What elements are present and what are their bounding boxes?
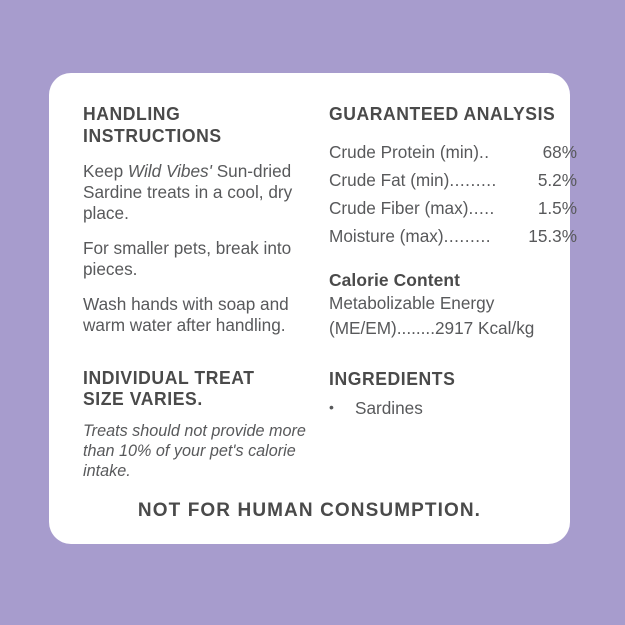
analysis-nutrient-value: 15.3% [528,222,577,250]
treat-size-heading-line-2: SIZE VARIES. [83,388,300,410]
list-item: • Sardines [329,397,577,419]
handling-paragraph-wash-hands: Wash hands with soap and warm water afte… [83,294,311,335]
calorie-content-section: Calorie Content Metabolizable Energy (ME… [329,270,577,340]
table-row: Crude Protein (min) .. 68% [329,138,577,166]
analysis-dot-leader: ..... [468,194,537,222]
table-row: Crude Fat (min) ......... 5.2% [329,166,577,194]
analysis-nutrient-name: Crude Fat (min) [329,166,449,194]
analysis-dot-leader: .. [479,138,543,166]
analysis-nutrient-value: 1.5% [538,194,577,222]
table-row: Moisture (max) ......... 15.3% [329,222,577,250]
handling-instructions-heading: HANDLING INSTRUCTIONS [83,103,300,146]
label-columns: HANDLING INSTRUCTIONS Keep Wild Vibes' S… [77,103,542,481]
analysis-nutrient-name: Crude Protein (min) [329,138,479,166]
treat-size-section: INDIVIDUAL TREAT SIZE VARIES. Treats sho… [83,367,311,482]
analysis-dot-leader: ......... [449,166,537,194]
right-column: GUARANTEED ANALYSIS Crude Protein (min) … [311,103,577,419]
treat-size-heading-line-1: INDIVIDUAL TREAT [83,367,300,389]
analysis-nutrient-value: 68% [543,138,577,166]
handling-paragraph-storage-before: Keep [83,161,128,181]
ingredients-list: • Sardines [329,397,577,419]
ingredients-section: INGREDIENTS • Sardines [329,368,577,419]
analysis-nutrient-value: 5.2% [538,166,577,194]
treat-size-note: Treats should not provide more than 10% … [83,422,311,481]
calorie-content-line-2: (ME/EM)........2917 Kcal/kg [329,316,577,340]
ingredient-label: Sardines [355,397,423,419]
handling-heading-line-2: INSTRUCTIONS [83,125,300,147]
human-consumption-warning: NOT FOR HUMAN CONSUMPTION. [49,500,570,522]
left-column: HANDLING INSTRUCTIONS Keep Wild Vibes' S… [77,103,311,481]
brand-name: Wild Vibes' [128,161,212,181]
analysis-nutrient-name: Crude Fiber (max) [329,194,468,222]
ingredients-heading: INGREDIENTS [329,368,565,390]
guaranteed-analysis-list: Crude Protein (min) .. 68% Crude Fat (mi… [329,138,577,251]
handling-paragraph-storage: Keep Wild Vibes' Sun-dried Sardine treat… [83,161,311,223]
handling-heading-line-1: HANDLING [83,103,300,125]
handling-instructions-section: HANDLING INSTRUCTIONS Keep Wild Vibes' S… [83,103,311,336]
table-row: Crude Fiber (max) ..... 1.5% [329,194,577,222]
analysis-dot-leader: ......... [444,222,529,250]
calorie-content-heading: Calorie Content [329,270,577,291]
guaranteed-analysis-heading: GUARANTEED ANALYSIS [329,103,565,125]
bullet-icon: • [329,397,355,419]
handling-paragraph-small-pets: For smaller pets, break into pieces. [83,238,311,279]
treat-size-heading: INDIVIDUAL TREAT SIZE VARIES. [83,367,300,410]
calorie-content-line-1: Metabolizable Energy [329,291,577,315]
nutrition-label-card: HANDLING INSTRUCTIONS Keep Wild Vibes' S… [49,73,570,544]
analysis-nutrient-name: Moisture (max) [329,222,444,250]
label-stage: HANDLING INSTRUCTIONS Keep Wild Vibes' S… [0,0,625,625]
guaranteed-analysis-section: GUARANTEED ANALYSIS Crude Protein (min) … [329,103,577,250]
